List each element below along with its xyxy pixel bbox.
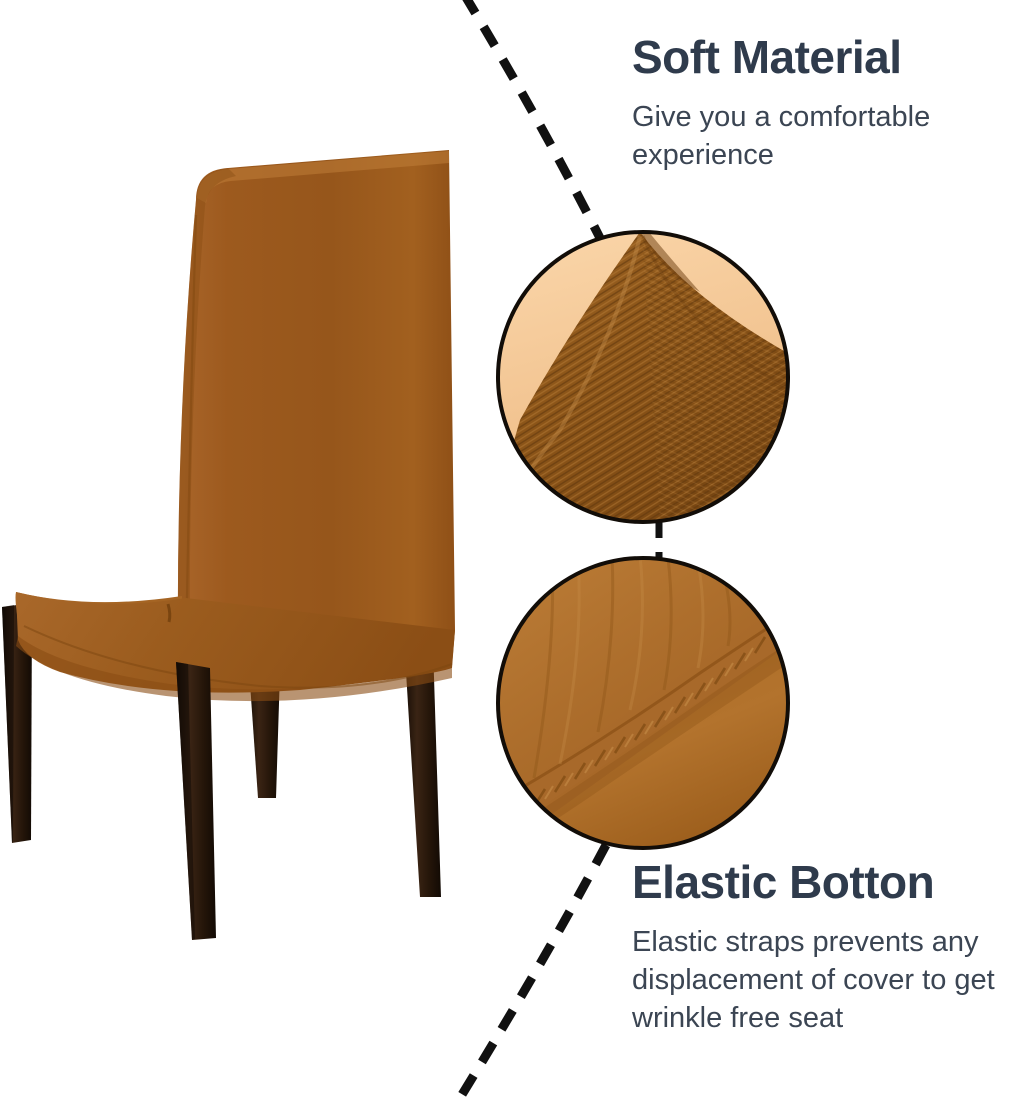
chair-backrest bbox=[178, 150, 455, 660]
callout-top-border bbox=[498, 232, 788, 522]
feature-graphic-canvas: Soft Material Give you a comfortable exp… bbox=[0, 0, 1031, 1100]
backrest-seam bbox=[186, 215, 196, 655]
feature-title-elastic-botton: Elastic Botton bbox=[632, 855, 1031, 909]
hem-seam bbox=[24, 626, 452, 688]
bottom-dashed-arc bbox=[455, 845, 606, 1100]
chair-hem bbox=[16, 636, 452, 701]
chair-seat-skirt bbox=[16, 592, 456, 677]
top-dashed-arc bbox=[464, 0, 600, 238]
feature-block-soft-material: Soft Material Give you a comfortable exp… bbox=[632, 30, 1031, 174]
feature-description-elastic-botton: Elastic straps prevents any displacement… bbox=[632, 923, 1031, 1037]
chair-leg-front-left bbox=[2, 603, 32, 843]
chair-leg-back-right bbox=[404, 640, 441, 897]
feature-block-elastic-botton: Elastic Botton Elastic straps prevents a… bbox=[632, 855, 1031, 1037]
chair-leg-back-left bbox=[247, 640, 281, 798]
chair-skirt bbox=[16, 592, 455, 693]
chair-illustration bbox=[2, 150, 455, 940]
callout-fabric-texture bbox=[495, 229, 800, 529]
feature-description-soft-material: Give you a comfortable experience bbox=[632, 98, 1031, 174]
callout-bottom-border bbox=[498, 558, 788, 848]
elastic-tag bbox=[168, 604, 170, 622]
callout-elastic-hem bbox=[495, 555, 795, 855]
feature-title-soft-material: Soft Material bbox=[632, 30, 1031, 84]
chair-leg-front-center bbox=[176, 662, 216, 940]
chair-seat-left bbox=[16, 592, 182, 662]
